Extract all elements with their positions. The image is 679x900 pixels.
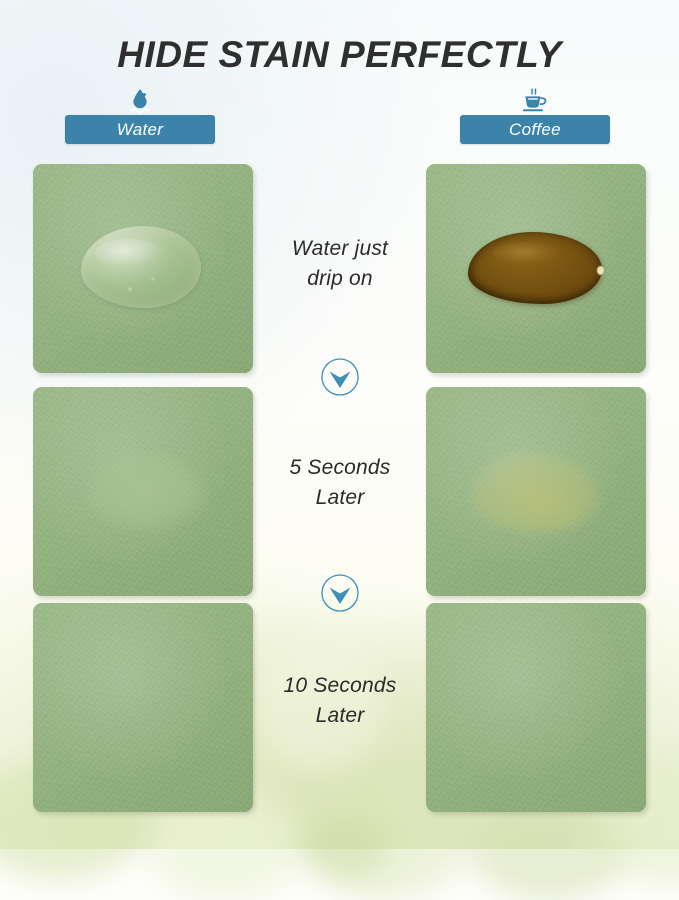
water-badge[interactable]: Water bbox=[65, 115, 215, 144]
step-caption-3-line2: Later bbox=[255, 701, 425, 731]
step-arrow-2 bbox=[320, 573, 360, 613]
step-caption-2-line1: 5 Seconds bbox=[255, 453, 425, 483]
step-caption-1: Water just drip on bbox=[255, 234, 425, 294]
step-caption-3: 10 Seconds Later bbox=[255, 671, 425, 731]
step-caption-1-line1: Water just bbox=[255, 234, 425, 264]
step-caption-1-line2: drip on bbox=[255, 264, 425, 294]
step-arrow-1 bbox=[320, 357, 360, 397]
step-caption-2: 5 Seconds Later bbox=[255, 453, 425, 513]
chevron-down-icon bbox=[320, 573, 360, 613]
water-bubble bbox=[107, 247, 112, 252]
column-header-coffee: Coffee bbox=[460, 88, 610, 144]
column-header-water: Water bbox=[65, 88, 215, 144]
coffee-cup-icon bbox=[460, 88, 610, 114]
water-bubble bbox=[127, 287, 133, 291]
sample-tile-water-step1 bbox=[33, 164, 253, 373]
coffee-badge-label: Coffee bbox=[509, 120, 561, 140]
sample-tile-coffee-step3 bbox=[426, 603, 646, 812]
water-bubble bbox=[151, 277, 155, 281]
water-faint-mark bbox=[85, 451, 207, 531]
page-title: HIDE STAIN PERFECTLY bbox=[0, 33, 679, 77]
coffee-spill bbox=[468, 232, 602, 304]
sample-tile-coffee-step2 bbox=[426, 387, 646, 596]
step-caption-3-line1: 10 Seconds bbox=[255, 671, 425, 701]
water-bubble bbox=[148, 242, 152, 246]
coffee-highlight bbox=[597, 266, 604, 275]
water-badge-label: Water bbox=[117, 120, 164, 140]
chevron-down-icon bbox=[320, 357, 360, 397]
sample-tile-coffee-step1 bbox=[426, 164, 646, 373]
coffee-faint-mark bbox=[468, 451, 600, 533]
sample-tile-water-step2 bbox=[33, 387, 253, 596]
water-puddle bbox=[81, 226, 201, 308]
tile-shading bbox=[426, 603, 646, 812]
tile-shading bbox=[33, 603, 253, 812]
step-caption-2-line2: Later bbox=[255, 483, 425, 513]
water-drop-icon bbox=[65, 88, 215, 114]
sample-tile-water-step3 bbox=[33, 603, 253, 812]
coffee-badge[interactable]: Coffee bbox=[460, 115, 610, 144]
